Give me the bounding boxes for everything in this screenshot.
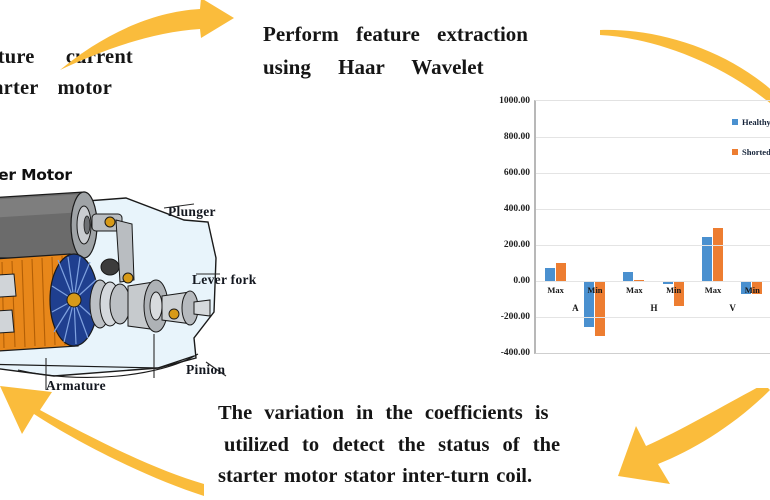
chart-group-label: H [650, 303, 657, 313]
curved-arrow-up-left-icon [0, 382, 204, 500]
chart-bar-healthy [545, 268, 555, 282]
step-extract-line2: using Haar Wavelet [263, 51, 593, 84]
chart-legend: Healthy Stator Shorted Stator [732, 117, 770, 177]
chart-ytick-label: 400.00 [504, 204, 530, 214]
step-detect-text: The variation in the coefficients is uti… [218, 398, 638, 493]
chart-category-label: Min [587, 285, 602, 295]
chart-category-group: Min [575, 101, 614, 353]
legend-swatch-shorted-icon [732, 149, 738, 155]
chart-ytick-label: -400.00 [501, 348, 530, 358]
chart-gridline [536, 209, 770, 210]
chart-category-group: Min [654, 101, 693, 353]
step-detect-line3: starter motor stator inter-turn coil. [218, 461, 638, 493]
wavelet-coefficients-bar-chart: MaxMinMaxMinMaxMinAHV Healthy Stator Sho… [462, 92, 768, 380]
step-detect-line1: The variation in the coefficients is [218, 398, 638, 430]
chart-gridline [536, 173, 770, 174]
legend-label-healthy: Healthy Stator [742, 117, 770, 127]
motor-label-plunger: Plunger [168, 204, 216, 220]
chart-category-group: Max [693, 101, 732, 353]
chart-category-group: Max [536, 101, 575, 353]
chart-ytick-label: 1000.00 [499, 96, 530, 106]
chart-category-label: Max [705, 285, 722, 295]
chart-ytick-label: 600.00 [504, 168, 530, 178]
chart-category-label: Max [547, 285, 564, 295]
chart-category-group: Max [615, 101, 654, 353]
motor-label-pinion: Pinion [186, 362, 225, 378]
chart-ytick-label: 800.00 [504, 132, 530, 142]
motor-label-lever-fork: Lever fork [192, 272, 257, 288]
chart-ytick-label: 200.00 [504, 240, 530, 250]
chart-category-label: Max [626, 285, 643, 295]
chart-bar-healthy [702, 237, 712, 281]
chart-gridline [536, 245, 770, 246]
chart-gridline [536, 281, 770, 282]
chart-plot-frame: MaxMinMaxMinMaxMinAHV Healthy Stator Sho… [534, 100, 770, 354]
chart-gridline [536, 317, 770, 318]
legend-swatch-healthy-icon [732, 119, 738, 125]
legend-item-shorted: Shorted Stator [732, 147, 770, 157]
legend-label-shorted: Shorted Stator [742, 147, 770, 157]
chart-bar-shorted [713, 228, 723, 281]
curved-arrow-right-icon [58, 0, 278, 74]
chart-bar-shorted [556, 263, 566, 281]
step-detect-line2: utilized to detect the status of the [218, 430, 638, 462]
chart-ytick-label: 0.00 [513, 276, 530, 286]
chart-group-label: A [572, 303, 579, 313]
chart-bar-healthy [623, 272, 633, 281]
legend-item-healthy: Healthy Stator [732, 117, 770, 127]
chart-ytick-label: -200.00 [501, 312, 530, 322]
step-extract-text: Perform feature extraction using Haar Wa… [263, 18, 593, 84]
chart-category-label: Min [745, 285, 760, 295]
step-extract-line1: Perform feature extraction [263, 18, 593, 51]
motor-label-armature: Armature [46, 378, 106, 394]
chart-group-label: V [729, 303, 736, 313]
chart-category-label: Min [666, 285, 681, 295]
step-acquire-line2: starter motor [0, 73, 200, 104]
curved-arrow-left-icon [596, 388, 770, 500]
chart-gridline [536, 137, 770, 138]
flowchart-figure: mature current starter motor Perform fea… [0, 0, 770, 500]
